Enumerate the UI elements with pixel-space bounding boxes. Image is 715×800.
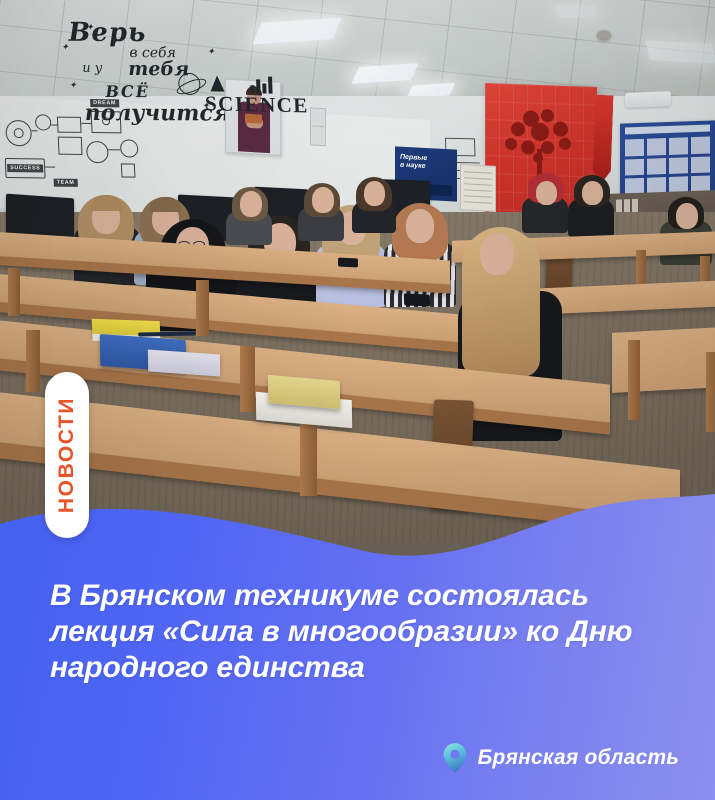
location-row: Брянская область (442, 742, 679, 774)
map-pin-icon (442, 742, 468, 774)
news-badge-label: НОВОСТИ (55, 397, 79, 513)
news-card: Верь в себя и у тебя ВСЁ получится ✦ ✦ ✦… (0, 0, 715, 800)
page-title: В Брянском техникуме состоялась лекция «… (50, 578, 690, 686)
news-badge: НОВОСТИ (45, 372, 89, 538)
location-label: Брянская область (477, 746, 679, 770)
